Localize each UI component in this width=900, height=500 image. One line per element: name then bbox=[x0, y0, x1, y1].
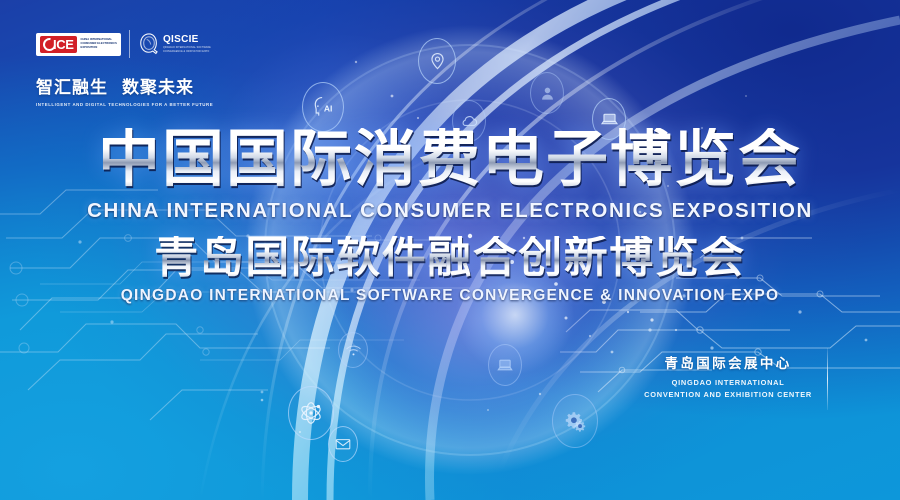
gears-icon bbox=[552, 394, 598, 448]
cice-subtitle: CHINA INTERNATIONAL CONSUMER ELECTRONICS… bbox=[80, 38, 116, 49]
logo-row: ICE CHINA INTERNATIONAL CONSUMER ELECTRO… bbox=[36, 26, 212, 62]
venue-name-cn: 青岛国际会展中心 bbox=[644, 352, 812, 372]
atom-icon bbox=[288, 386, 334, 440]
slogan-cn-part-a: 智汇融生 bbox=[36, 78, 108, 97]
slogan-en: INTELLIGENT AND DIGITAL TECHNOLOGIES FOR… bbox=[36, 102, 212, 107]
qiscie-logo: QISCIE QINGDAO INTERNATIONAL SOFTWARE CO… bbox=[138, 32, 211, 56]
qiscie-subtitle-line-1: QINGDAO INTERNATIONAL SOFTWARE bbox=[163, 46, 211, 49]
svg-text:AI: AI bbox=[324, 103, 333, 113]
slogan-cn: 智汇融生数聚未来 bbox=[36, 73, 212, 98]
venue-name-en-line-2: CONVENTION AND EXHIBITION CENTER bbox=[644, 390, 812, 399]
chip-icon bbox=[488, 344, 522, 386]
wifi-icon bbox=[338, 332, 368, 368]
envelope-icon bbox=[328, 426, 358, 462]
second-title-en: QINGDAO INTERNATIONAL SOFTWARE CONVERGEN… bbox=[0, 287, 900, 305]
qiscie-text: QISCIE QINGDAO INTERNATIONAL SOFTWARE CO… bbox=[163, 35, 211, 53]
qiscie-wordmark: QISCIE bbox=[163, 35, 211, 45]
person-icon bbox=[530, 72, 564, 114]
venue-block: 青岛国际会展中心 QINGDAO INTERNATIONAL CONVENTIO… bbox=[644, 352, 812, 399]
cice-logo: ICE CHINA INTERNATIONAL CONSUMER ELECTRO… bbox=[36, 33, 121, 56]
venue-divider bbox=[827, 348, 828, 410]
qiscie-subtitle: QINGDAO INTERNATIONAL SOFTWARE CONVERGEN… bbox=[163, 46, 211, 53]
logo-divider bbox=[129, 30, 130, 58]
organizer-logo-block: ICE CHINA INTERNATIONAL CONSUMER ELECTRO… bbox=[36, 26, 212, 107]
venue-name-en-line-1: QINGDAO INTERNATIONAL bbox=[644, 378, 812, 387]
location-pin-icon bbox=[418, 38, 456, 84]
cice-subtitle-line-3: EXPOSITION bbox=[80, 46, 116, 50]
second-title-cn: 青岛国际软件融合创新博览会 bbox=[154, 236, 746, 280]
title-group: 中国国际消费电子博览会 CHINA INTERNATIONAL CONSUMER… bbox=[0, 128, 900, 305]
q-monogram-icon bbox=[138, 32, 160, 56]
qiscie-subtitle-line-2: CONVERGENCE & INNOVATION EXPO bbox=[163, 50, 211, 53]
main-title-cn: 中国国际消费电子博览会 bbox=[98, 128, 802, 190]
main-title-en: CHINA INTERNATIONAL CONSUMER ELECTRONICS… bbox=[0, 199, 900, 223]
event-banner: AI bbox=[0, 0, 900, 500]
cice-mark: ICE bbox=[40, 36, 77, 53]
slogan-cn-part-b: 数聚未来 bbox=[122, 78, 194, 97]
